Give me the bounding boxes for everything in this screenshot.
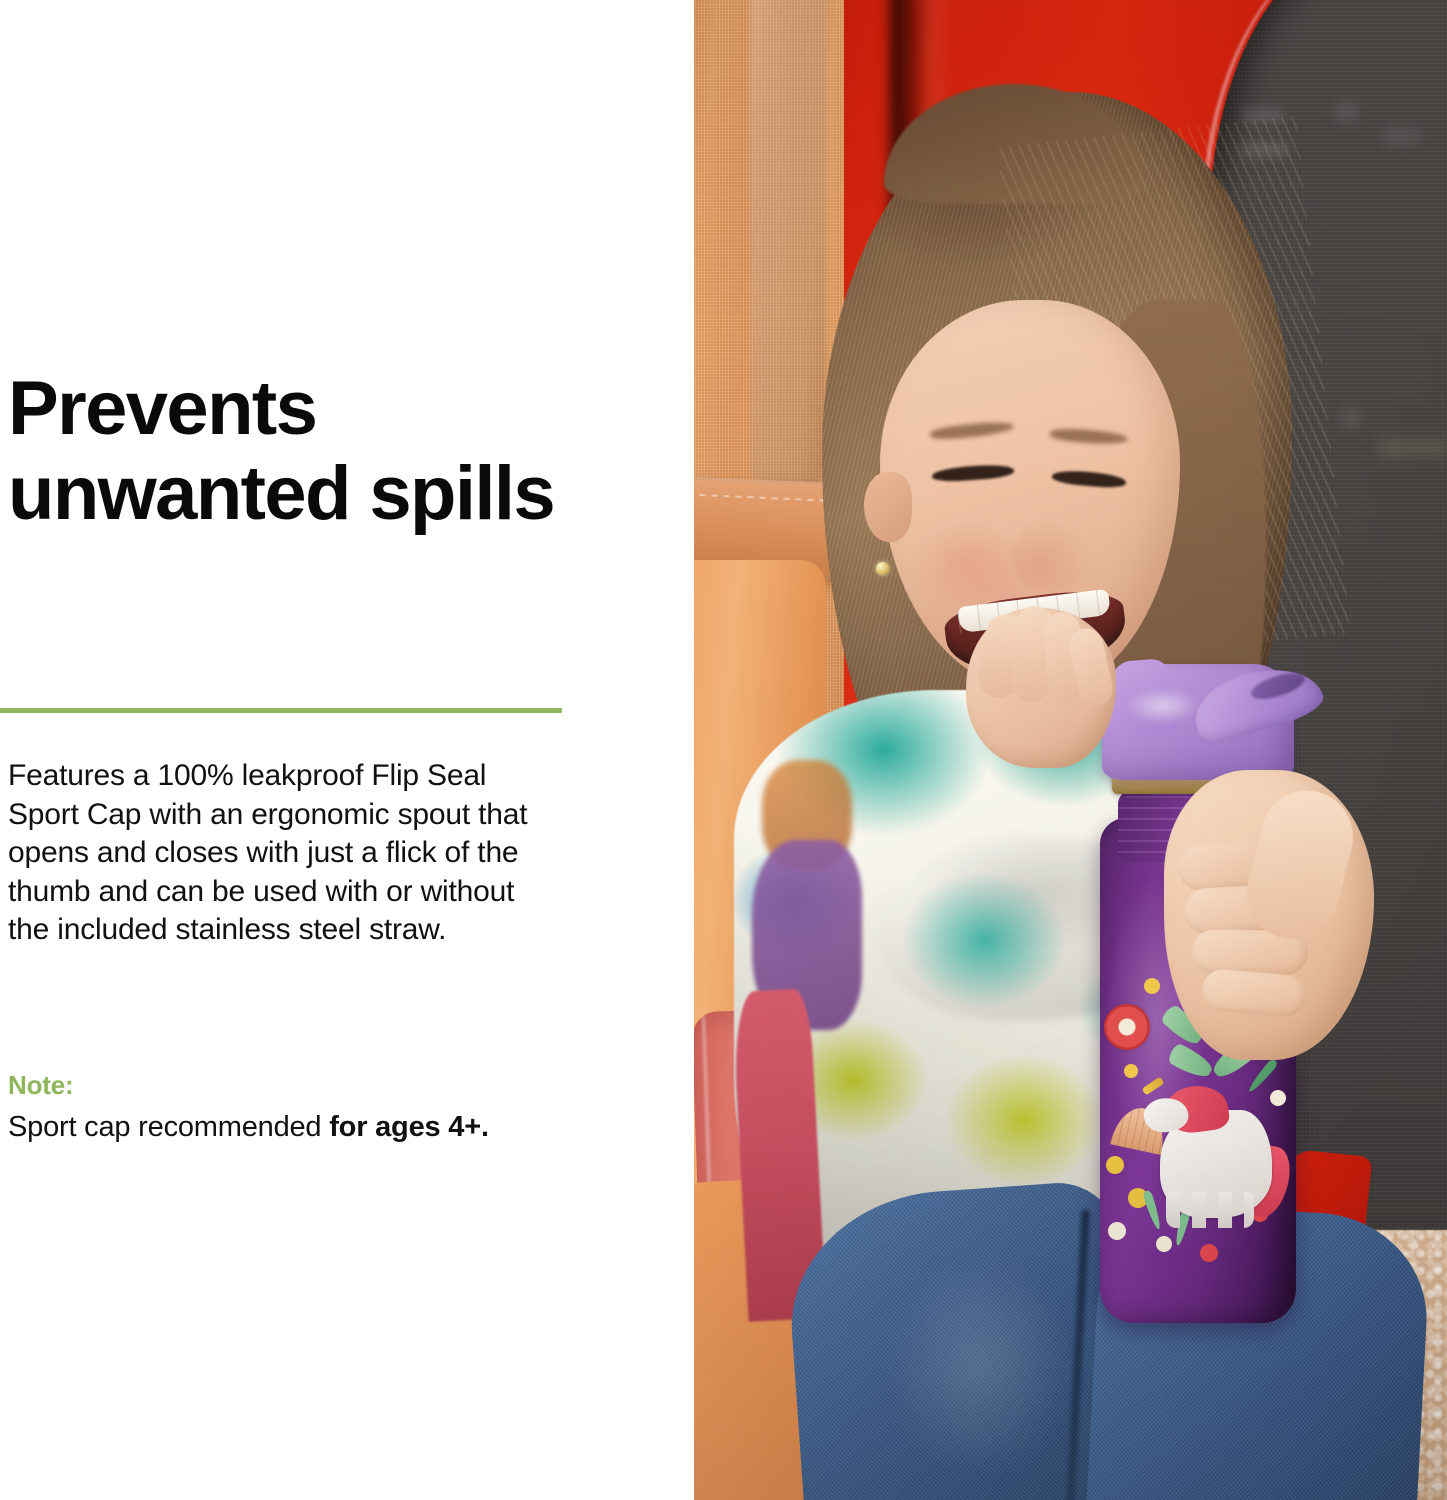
mesh-blur-detail: [1334, 102, 1358, 122]
unicorn-legs: [1166, 1192, 1254, 1228]
unicorn-horn: [1142, 1077, 1165, 1096]
child-nose: [1012, 520, 1088, 592]
white-flower: [1156, 1236, 1172, 1252]
leaf-sprig: [1142, 1190, 1163, 1231]
red-flower-small: [1200, 1244, 1218, 1262]
canvas-fold: [750, 0, 826, 490]
mesh-blur-detail: [1384, 128, 1420, 144]
accent-divider: [0, 708, 562, 713]
cap-highlight: [1126, 688, 1200, 724]
page-title: Prevents unwanted spills: [8, 366, 608, 536]
product-lifestyle-photo: [694, 0, 1447, 1500]
product-feature-panel: Prevents unwanted spills Features a 100%…: [0, 0, 1447, 1500]
note-text-regular: Sport cap recommended: [8, 1111, 329, 1143]
yellow-flower: [1106, 1156, 1124, 1174]
note-label: Note:: [8, 1069, 608, 1102]
note-block: Note: Sport cap recommended for ages 4+.: [8, 1069, 608, 1147]
copy-panel: Prevents unwanted spills Features a 100%…: [0, 0, 694, 1500]
white-flower: [1270, 1090, 1286, 1106]
earring: [876, 562, 889, 575]
mesh-blur-detail: [1340, 408, 1362, 428]
child-cheek: [912, 520, 1022, 608]
denim-highlight: [884, 1250, 1074, 1480]
yellow-flower: [1144, 978, 1160, 994]
white-flower: [1108, 1222, 1126, 1240]
body-paragraph: Features a 100% leakproof Flip Seal Spor…: [8, 757, 538, 950]
child-ear: [864, 472, 912, 542]
red-flower: [1104, 1004, 1150, 1050]
yellow-flower: [1124, 1064, 1138, 1078]
mesh-blur-detail: [1378, 440, 1447, 456]
leaf: [1166, 1042, 1215, 1082]
note-text-bold: for ages 4+.: [329, 1111, 489, 1143]
note-text: Sport cap recommended for ages 4+.: [8, 1108, 608, 1147]
